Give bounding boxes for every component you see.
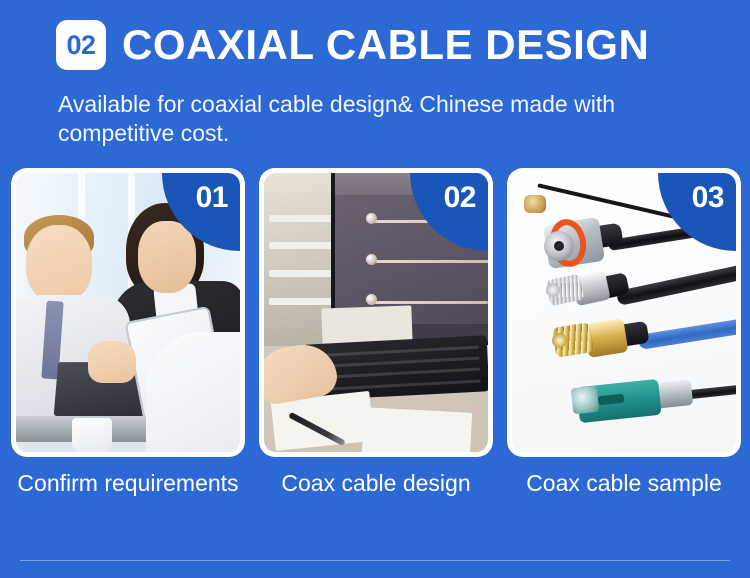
caption-coax-cable-design: Coax cable design xyxy=(259,468,493,498)
desk-paper xyxy=(361,407,471,452)
page-title: COAXIAL CABLE DESIGN xyxy=(122,20,649,70)
section-number-badge: 02 xyxy=(56,20,106,70)
bottom-divider xyxy=(20,560,730,561)
header: 02 COAXIAL CABLE DESIGN Available for co… xyxy=(0,0,750,150)
ipex-connector xyxy=(524,195,546,213)
woman-face xyxy=(138,221,196,293)
title-row: 02 COAXIAL CABLE DESIGN xyxy=(56,20,649,70)
cad-connector-drawing xyxy=(366,294,377,305)
card-confirm-requirements[interactable]: 01 xyxy=(11,168,245,457)
sma-silver-tip xyxy=(546,283,560,297)
ipex-cable xyxy=(537,183,674,218)
cad-connector-drawing xyxy=(366,254,377,265)
black-coax-cable xyxy=(616,263,736,306)
coffee-cup xyxy=(72,418,112,452)
card-coax-cable-sample[interactable]: 03 xyxy=(507,168,741,457)
sma-gold-tip xyxy=(552,333,567,348)
section-number-text: 02 xyxy=(66,32,95,59)
cad-cable-drawing xyxy=(371,260,488,263)
man-face xyxy=(26,225,92,303)
keyboard-row xyxy=(311,346,480,358)
photo-design-workstation: 02 xyxy=(264,173,488,452)
fakra-bulkhead-pin xyxy=(554,241,564,251)
card-badge-number: 01 xyxy=(196,183,228,213)
card-coax-cable-design[interactable]: 02 xyxy=(259,168,493,457)
caption-row: Confirm requirements Coax cable design C… xyxy=(0,468,750,550)
caption-coax-cable-sample: Coax cable sample xyxy=(507,468,741,498)
card-badge-number: 03 xyxy=(692,183,724,213)
photo-office-meeting: 01 xyxy=(16,173,240,452)
shelf-board xyxy=(269,270,336,277)
shelf-board xyxy=(269,298,336,305)
cad-cable-drawing xyxy=(371,301,488,304)
shelf-board xyxy=(269,215,336,222)
card-badge-number: 02 xyxy=(444,183,476,213)
photo-connector-samples: 03 xyxy=(512,173,736,452)
keyboard-row xyxy=(312,368,481,380)
card-row: 01 xyxy=(0,168,750,460)
page-subtitle: Available for coaxial cable design& Chin… xyxy=(58,90,698,148)
foreground-person-arm xyxy=(146,332,240,452)
shelf-board xyxy=(269,242,336,249)
pointing-hand xyxy=(88,341,136,383)
blue-coax-cable xyxy=(638,315,736,350)
caption-confirm-requirements: Confirm requirements xyxy=(11,468,245,498)
keyboard-row xyxy=(311,357,480,369)
keyboard-row xyxy=(313,379,482,391)
fakra-mating-face xyxy=(571,386,600,415)
